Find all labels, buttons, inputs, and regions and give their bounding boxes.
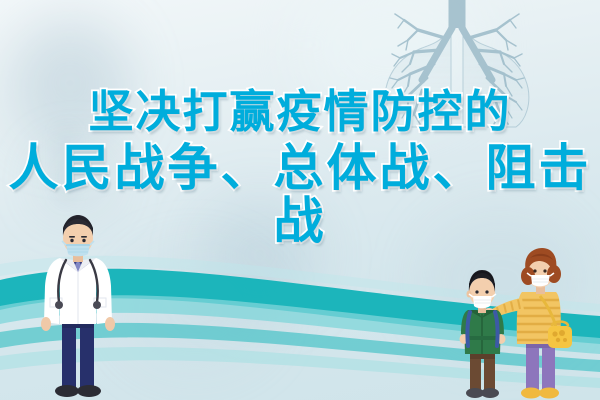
family-figure xyxy=(456,248,592,400)
background-blob xyxy=(10,18,130,148)
poster-canvas: 坚决打赢疫情防控的 人民战争、总体战、阻击战 xyxy=(0,0,600,400)
background-blob-stem xyxy=(62,130,69,200)
background-blob xyxy=(42,150,112,210)
lungs-icon xyxy=(352,0,562,129)
doctor-figure xyxy=(26,210,130,400)
